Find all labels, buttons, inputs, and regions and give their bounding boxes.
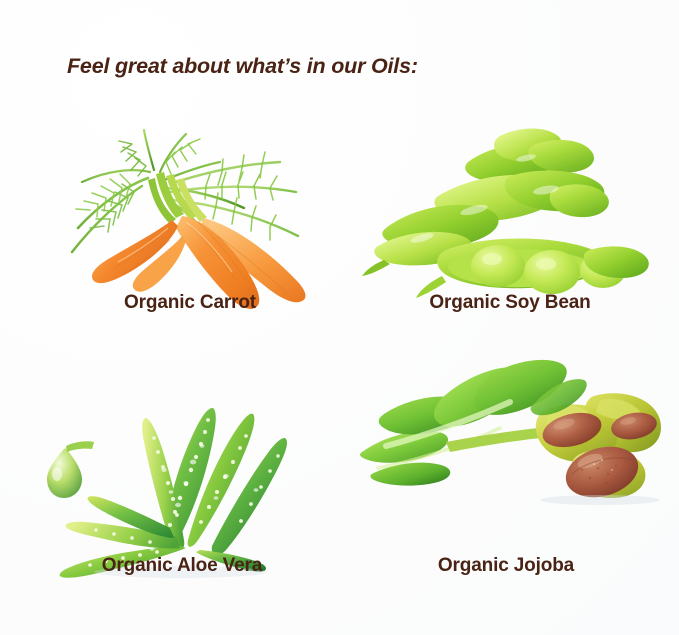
ingredient-aloe-vera <box>30 350 350 582</box>
caption-jojoba: Organic Jojoba <box>346 555 666 577</box>
soybean-illustration <box>350 100 670 320</box>
caption-soy-bean: Organic Soy Bean <box>350 292 670 314</box>
aloe-vera-illustration <box>30 350 350 582</box>
carrot-illustration <box>30 100 350 320</box>
ingredient-carrot <box>30 100 350 320</box>
ingredient-soy-bean <box>350 100 670 320</box>
caption-aloe-vera: Organic Aloe Vera <box>22 555 342 577</box>
caption-carrot: Organic Carrot <box>30 292 350 314</box>
page-title: Feel great about what’s in our Oils: <box>67 54 418 79</box>
ingredient-poster: Feel great about what’s in our Oils: <box>0 0 679 635</box>
jojoba-illustration <box>350 350 670 582</box>
ingredient-jojoba <box>350 350 670 582</box>
